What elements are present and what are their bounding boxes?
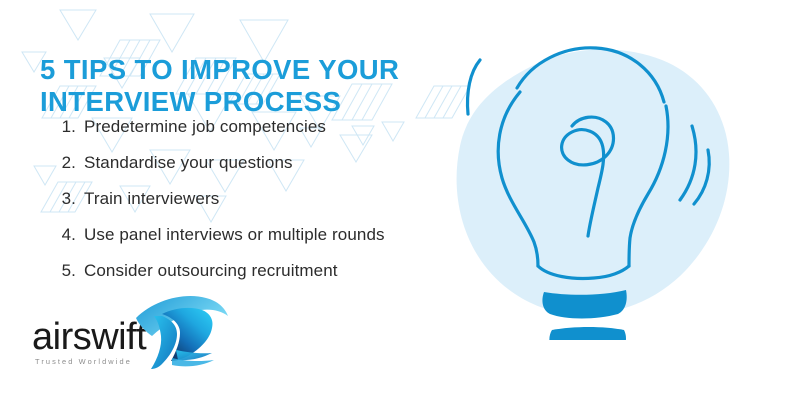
- swallow-bird-icon: [132, 296, 230, 370]
- bulb-base-bars: [542, 290, 626, 340]
- list-item: 4. Use panel interviews or multiple roun…: [52, 225, 472, 261]
- blob-shape: [457, 49, 730, 314]
- infographic-canvas: 5 Tips to Improve Your Interview Process…: [0, 0, 800, 400]
- tips-list: 1. Predetermine job competencies 2. Stan…: [52, 117, 472, 297]
- list-item-number: 5.: [52, 261, 76, 281]
- list-item-label: Predetermine job competencies: [84, 117, 326, 137]
- list-item-number: 2.: [52, 153, 76, 173]
- list-item-label: Train interviewers: [84, 189, 219, 209]
- list-item: 5. Consider outsourcing recruitment: [52, 261, 472, 297]
- list-item-label: Consider outsourcing recruitment: [84, 261, 338, 281]
- page-title: 5 Tips to Improve Your Interview Process: [40, 54, 460, 118]
- list-item: 3. Train interviewers: [52, 189, 472, 225]
- list-item-number: 4.: [52, 225, 76, 245]
- logo-wordmark: airswift: [32, 318, 146, 356]
- list-item: 1. Predetermine job competencies: [52, 117, 472, 153]
- list-item-label: Standardise your questions: [84, 153, 293, 173]
- list-item-label: Use panel interviews or multiple rounds: [84, 225, 385, 245]
- airswift-logo: airswift Trusted Worldwide: [32, 300, 232, 382]
- logo-tagline: Trusted Worldwide: [35, 357, 132, 366]
- list-item-number: 3.: [52, 189, 76, 209]
- list-item-number: 1.: [52, 117, 76, 137]
- lightbulb-icon: [440, 20, 780, 340]
- list-item: 2. Standardise your questions: [52, 153, 472, 189]
